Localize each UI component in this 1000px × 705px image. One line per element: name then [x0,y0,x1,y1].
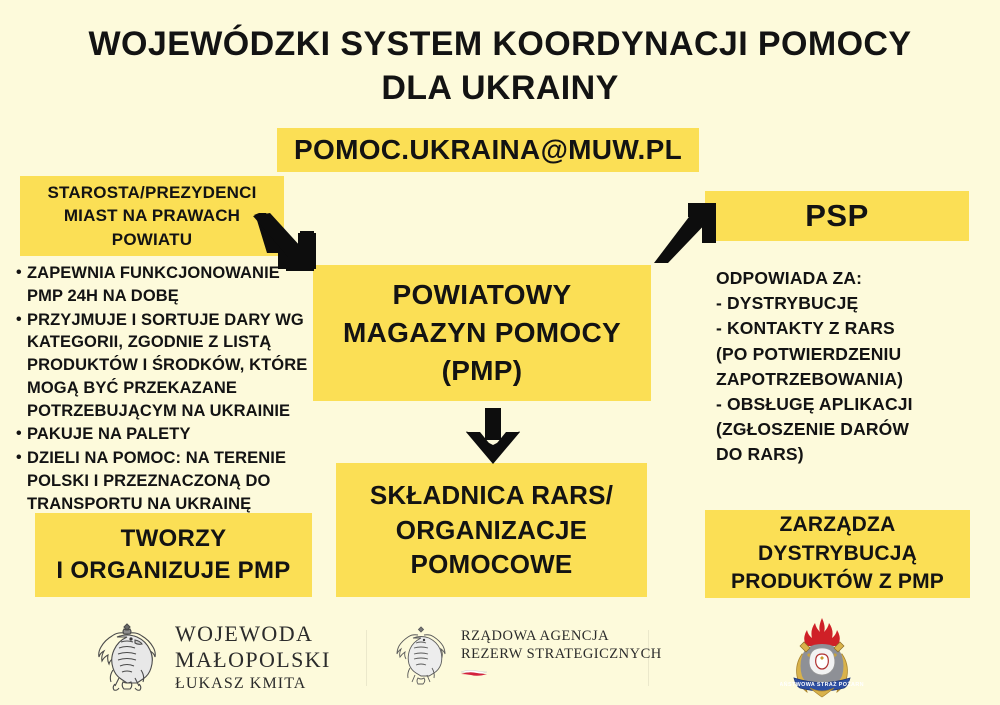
arrow-down-icon [462,408,524,466]
list-item: • DZIELI NA POMOC: NA TERENIE POLSKI I P… [16,447,318,515]
logo-rars-text: RZĄDOWA AGENCJA REZERW STRATEGICZNYCH [461,627,662,683]
bullet-icon: • [16,309,27,331]
skladnica-line-1: SKŁADNICA RARS/ [370,478,613,513]
poland-flag-icon [327,69,365,107]
list-item-label: PRZYJMUJE I SORTUJE DARY WG KATEGORII, Z… [27,309,318,423]
pmp-line-3: (PMP) [442,352,523,390]
box-starosta-prezydenci: STAROSTA/PREZYDENCI MIAST NA PRAWACH POW… [20,176,284,256]
title-line-1: WOJEWÓDZKI SYSTEM KOORDYNACJI POMOCY [0,24,1000,64]
wojewoda-line-3: ŁUKASZ KMITA [175,675,331,694]
list-item-label: DZIELI NA POMOC: NA TERENIE POLSKI I PRZ… [27,447,318,515]
starosta-responsibilities-list: • ZAPEWNIA FUNKCJONOWANIE PMP 24H NA DOB… [16,262,318,516]
logo-rzadowa-agencja-rezerw-strategicznych: RZĄDOWA AGENCJA REZERW STRATEGICZNYCH [395,624,662,686]
bullet-icon: • [16,423,27,445]
bullet-icon: • [16,262,27,284]
footer-logos: WOJEWODA MAŁOPOLSKI ŁUKASZ KMITA [0,608,1000,705]
pmp-line-2: MAGAZYN POMOCY [343,314,621,352]
arrow-up-right-icon [650,195,730,267]
psp-responsibilities-list: ODPOWIADA ZA: - DYSTRYBUCJĘ - KONTAKTY Z… [716,266,992,468]
rars-line-2: REZERW STRATEGICZNYCH [461,645,662,663]
svg-text:PAŃSTWOWA STRAŻ POŻARNA: PAŃSTWOWA STRAŻ POŻARNA [780,680,864,688]
list-item: ODPOWIADA ZA: [716,266,992,291]
wojewoda-line-1: WOJEWODA [175,621,331,647]
list-item: - KONTAKTY Z RARS [716,316,992,341]
footer-divider [366,630,367,686]
list-item: - OBSŁUGĘ APLIKACJI [716,392,992,417]
list-item: (PO POTWIERDZENIU [716,342,992,367]
list-item: • PRZYJMUJE I SORTUJE DARY WG KATEGORII,… [16,309,318,423]
skladnica-line-3: POMOCOWE [411,547,573,582]
box-skladnica-rars-organizacje-pomocowe: SKŁADNICA RARS/ ORGANIZACJE POMOCOWE [336,463,647,597]
logo-wojewoda-malopolski: WOJEWODA MAŁOPOLSKI ŁUKASZ KMITA [95,620,331,694]
box-powiatowy-magazyn-pomocy: POWIATOWY MAGAZYN POMOCY (PMP) [313,265,651,401]
list-item: (ZGŁOSZENIE DARÓW [716,417,992,442]
list-item-label: PAKUJE NA PALETY [27,423,318,446]
logo-wojewoda-text: WOJEWODA MAŁOPOLSKI ŁUKASZ KMITA [175,621,331,694]
poland-stripe-icon [461,669,487,677]
skladnica-line-2: ORGANIZACJE [396,513,587,548]
pmp-line-1: POWIATOWY [393,276,572,314]
ukraine-flag-icon [635,69,673,107]
page-title: WOJEWÓDZKI SYSTEM KOORDYNACJI POMOCY DLA… [0,24,1000,108]
list-item: - DYSTRYBUCJĘ [716,291,992,316]
zarzadza-line-2: DYSTRYBUCJĄ [758,540,917,569]
title-line-2: DLA UKRAINY [381,68,618,108]
infographic-canvas: WOJEWÓDZKI SYSTEM KOORDYNACJI POMOCY DLA… [0,0,1000,705]
list-item: ZAPOTRZEBOWANIA) [716,367,992,392]
box-psp: PSP [705,191,969,241]
bullet-icon: • [16,447,27,469]
tworzy-line-2: I ORGANIZUJE PMP [56,555,290,587]
tworzy-line-1: TWORZY [121,523,227,555]
wojewoda-line-2: MAŁOPOLSKI [175,647,331,673]
rars-line-1: RZĄDOWA AGENCJA [461,627,662,645]
zarzadza-line-3: PRODUKTÓW Z PMP [731,568,944,597]
list-item: • PAKUJE NA PALETY [16,423,318,446]
polish-eagle-icon [395,624,447,686]
box-zarzadza-dystrybucja: ZARZĄDZA DYSTRYBUCJĄ PRODUKTÓW Z PMP [705,510,970,598]
title-line-2-row: DLA UKRAINY [0,68,1000,108]
list-item: DO RARS) [716,442,992,467]
polish-eagle-icon [95,620,159,694]
box-tworzy-i-organizuje-pmp: TWORZY I ORGANIZUJE PMP [35,513,312,597]
psp-fire-service-badge-icon: PAŃSTWOWA STRAŻ POŻARNA [780,616,864,700]
zarzadza-line-1: ZARZĄDZA [780,511,896,540]
contact-email-banner[interactable]: POMOC.UKRAINA@MUW.PL [277,128,699,172]
arrow-down-right-icon [250,213,328,275]
